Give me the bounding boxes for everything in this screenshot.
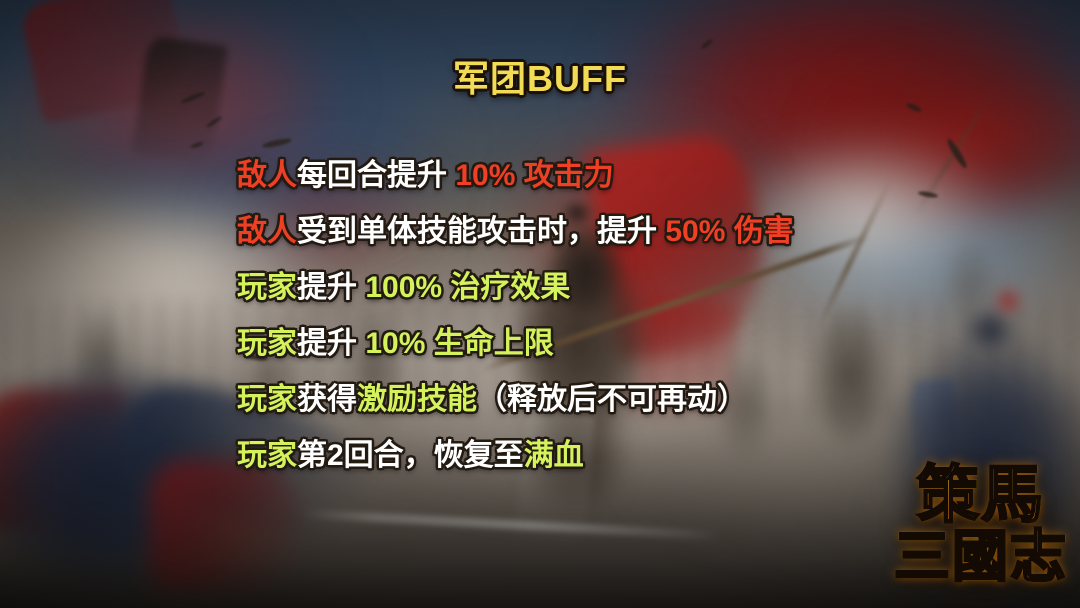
- buff-text-segment: 100% 治疗效果: [365, 271, 570, 304]
- buff-text-segment: 第2回合，恢复至: [297, 439, 524, 472]
- buff-text-segment: 提升: [297, 271, 365, 304]
- buff-text-segment: 玩家: [237, 327, 297, 360]
- buff-screen: 军团BUFF 敌人每回合提升 10% 攻击力敌人受到单体技能攻击时，提升 50%…: [0, 0, 1080, 608]
- buff-text-segment: （释放后不可再动）: [477, 383, 747, 416]
- buff-text-segment: 获得: [297, 383, 357, 416]
- page-title: 军团BUFF: [0, 50, 1080, 102]
- buff-overlay: 军团BUFF 敌人每回合提升 10% 攻击力敌人受到单体技能攻击时，提升 50%…: [0, 0, 1080, 608]
- buff-text-segment: 玩家: [237, 271, 297, 304]
- logo-line-2: 三國志: [894, 527, 1068, 589]
- buff-text-segment: 50% 伤害: [665, 215, 793, 248]
- buff-text-segment: 玩家: [237, 439, 297, 472]
- buff-text-segment: 玩家: [237, 383, 297, 416]
- buff-text-segment: 每回合提升: [297, 159, 455, 192]
- buff-line-player-max-hp: 玩家提升 10% 生命上限: [237, 316, 997, 372]
- buff-line-player-heal-effect: 玩家提升 100% 治疗效果: [237, 260, 997, 316]
- buff-text-segment: 敌人: [237, 215, 297, 248]
- logo-line-1: 策馬: [917, 465, 1045, 527]
- buff-line-enemy-attack-per-round: 敌人每回合提升 10% 攻击力: [237, 148, 997, 204]
- buff-text-segment: 激励技能: [357, 383, 477, 416]
- buff-text-segment: 10% 生命上限: [365, 327, 553, 360]
- buff-line-player-inspire-skill: 玩家获得激励技能（释放后不可再动）: [237, 372, 997, 428]
- buff-text-segment: 提升: [297, 327, 365, 360]
- buff-text-segment: 满血: [524, 439, 584, 472]
- buff-text-segment: 敌人: [237, 159, 297, 192]
- game-logo: 策馬 三國志: [888, 452, 1074, 602]
- buff-line-enemy-single-target-damage: 敌人受到单体技能攻击时，提升 50% 伤害: [237, 204, 997, 260]
- buff-list: 敌人每回合提升 10% 攻击力敌人受到单体技能攻击时，提升 50% 伤害玩家提升…: [237, 148, 997, 484]
- buff-text-segment: 10% 攻击力: [455, 159, 613, 192]
- buff-text-segment: 受到单体技能攻击时，提升: [297, 215, 665, 248]
